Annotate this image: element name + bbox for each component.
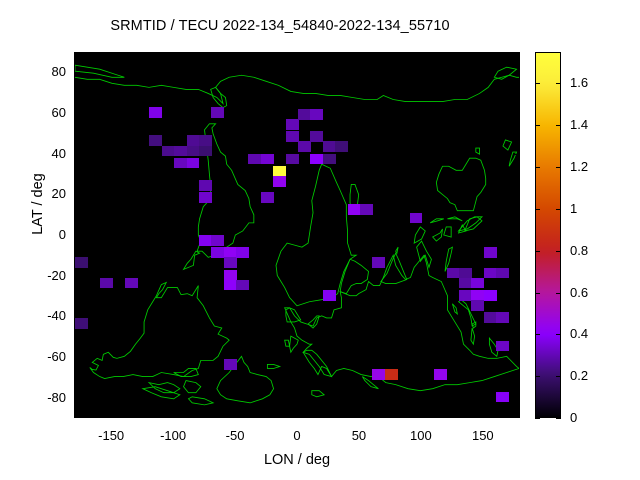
y-axis-tick bbox=[514, 194, 519, 195]
coastline-path bbox=[267, 364, 279, 368]
coastline-path bbox=[184, 251, 200, 269]
x-axis-tick-label: -50 bbox=[205, 428, 265, 443]
map-plot-area[interactable] bbox=[74, 52, 520, 418]
y-axis-tick-label: -80 bbox=[10, 390, 66, 405]
coastline-path bbox=[445, 247, 452, 271]
x-axis-tick-label: 150 bbox=[453, 428, 513, 443]
y-axis-tick-label: -60 bbox=[10, 349, 66, 364]
coastline-path bbox=[396, 247, 398, 253]
colorbar-tick bbox=[556, 334, 561, 335]
x-axis-tick bbox=[111, 412, 112, 417]
coastline-path bbox=[436, 158, 485, 211]
coastline-path bbox=[285, 255, 519, 390]
y-axis-tick bbox=[75, 235, 80, 236]
coastline-path bbox=[184, 381, 201, 393]
colorbar-tick bbox=[535, 293, 540, 294]
colorbar-tick-label: 1 bbox=[570, 201, 577, 216]
y-axis-tick-label: 60 bbox=[10, 105, 66, 120]
colorbar-tick-label: 1.2 bbox=[570, 159, 588, 174]
coastline-path bbox=[447, 217, 462, 221]
coastline-path bbox=[312, 391, 324, 397]
coastline-path bbox=[197, 124, 254, 257]
colorbar-tick-label: 1.6 bbox=[570, 75, 588, 90]
x-axis-tick-label: 100 bbox=[391, 428, 451, 443]
coastline-path bbox=[285, 340, 290, 346]
figure-canvas: SRMTID / TECU 2022-134_54840-2022-134_55… bbox=[0, 0, 640, 480]
colorbar-tick bbox=[556, 125, 561, 126]
y-axis-tick bbox=[75, 194, 80, 195]
y-axis-tick bbox=[514, 357, 519, 358]
coastline-path bbox=[362, 377, 378, 389]
coastline-path bbox=[381, 253, 407, 283]
coastline-map bbox=[75, 53, 519, 417]
coastline-path bbox=[90, 283, 229, 379]
coastline-path bbox=[471, 328, 475, 344]
coastline-path bbox=[211, 87, 227, 107]
coastline-path bbox=[350, 184, 359, 210]
y-axis-tick-label: -20 bbox=[10, 268, 66, 283]
coastline-path bbox=[452, 304, 457, 314]
coastline-path bbox=[430, 219, 444, 223]
y-axis-tick-label: -40 bbox=[10, 308, 66, 323]
coastline-path bbox=[143, 387, 180, 399]
x-axis-tick bbox=[359, 52, 360, 57]
colorbar-tick bbox=[556, 83, 561, 84]
y-axis-tick bbox=[514, 154, 519, 155]
x-axis-tick bbox=[421, 412, 422, 417]
colorbar-tick bbox=[556, 418, 561, 419]
colorbar-tick bbox=[556, 209, 561, 210]
coastline-path bbox=[503, 140, 512, 150]
x-axis-tick bbox=[173, 412, 174, 417]
coastline-path bbox=[75, 75, 519, 103]
coastline-path bbox=[217, 356, 274, 403]
x-axis-tick bbox=[235, 412, 236, 417]
x-axis-tick bbox=[297, 412, 298, 417]
coastline-path bbox=[303, 350, 331, 376]
coastline-path bbox=[444, 227, 451, 237]
y-axis-tick bbox=[75, 154, 80, 155]
coastline-path bbox=[340, 259, 368, 293]
coastline-path bbox=[276, 164, 356, 306]
x-axis-tick bbox=[173, 52, 174, 57]
coastline-path bbox=[149, 383, 180, 393]
coastline-path bbox=[414, 227, 425, 243]
coastline-path bbox=[459, 300, 476, 326]
y-axis-tick bbox=[514, 398, 519, 399]
y-axis-tick bbox=[75, 72, 80, 73]
colorbar-tick bbox=[535, 125, 540, 126]
colorbar-tick bbox=[535, 376, 540, 377]
y-axis-tick bbox=[514, 276, 519, 277]
y-axis-tick bbox=[75, 398, 80, 399]
colorbar-tick-label: 0.2 bbox=[570, 368, 588, 383]
colorbar-tick-label: 1.4 bbox=[570, 117, 588, 132]
coastline-path bbox=[433, 229, 443, 241]
colorbar-tick bbox=[535, 334, 540, 335]
coastline-path bbox=[417, 241, 432, 267]
colorbar-tick-label: 0.8 bbox=[570, 243, 588, 258]
y-axis-tick bbox=[514, 316, 519, 317]
x-axis-tick bbox=[297, 52, 298, 57]
x-axis-tick bbox=[359, 412, 360, 417]
coastline-path bbox=[75, 65, 124, 77]
y-axis-tick-label: 80 bbox=[10, 64, 66, 79]
x-axis-label: LON / deg bbox=[74, 452, 520, 468]
y-axis-tick bbox=[514, 113, 519, 114]
y-axis-tick bbox=[75, 113, 80, 114]
x-axis-tick-label: 50 bbox=[329, 428, 389, 443]
x-axis-tick bbox=[235, 52, 236, 57]
colorbar-tick bbox=[556, 251, 561, 252]
colorbar-tick bbox=[535, 83, 540, 84]
colorbar-gradient bbox=[536, 53, 560, 417]
coastline-path bbox=[476, 148, 480, 154]
colorbar-tick bbox=[535, 209, 540, 210]
page-title: SRMTID / TECU 2022-134_54840-2022-134_55… bbox=[0, 18, 560, 34]
coastline-path bbox=[290, 336, 299, 352]
colorbar[interactable] bbox=[535, 52, 561, 418]
y-axis-label: LAT / deg bbox=[30, 144, 46, 264]
colorbar-tick bbox=[535, 167, 540, 168]
colorbar-tick bbox=[556, 293, 561, 294]
x-axis-tick-label: -100 bbox=[143, 428, 203, 443]
coastline-path bbox=[489, 338, 498, 356]
y-axis-tick bbox=[514, 72, 519, 73]
y-axis-tick bbox=[514, 235, 519, 236]
colorbar-tick bbox=[535, 418, 540, 419]
colorbar-tick-label: 0 bbox=[570, 410, 577, 425]
x-axis-tick bbox=[421, 52, 422, 57]
colorbar-tick bbox=[556, 167, 561, 168]
y-axis-tick bbox=[75, 276, 80, 277]
x-axis-tick-label: -150 bbox=[81, 428, 141, 443]
colorbar-tick bbox=[556, 376, 561, 377]
x-axis-tick bbox=[483, 52, 484, 57]
x-axis-tick bbox=[111, 52, 112, 57]
y-axis-tick bbox=[75, 316, 80, 317]
x-axis-tick-label: 0 bbox=[267, 428, 327, 443]
x-axis-tick bbox=[483, 412, 484, 417]
colorbar-tick bbox=[535, 251, 540, 252]
colorbar-tick-label: 0.4 bbox=[570, 326, 588, 341]
coastline-path bbox=[188, 397, 213, 405]
colorbar-tick-label: 0.6 bbox=[570, 285, 588, 300]
y-axis-tick bbox=[75, 357, 80, 358]
